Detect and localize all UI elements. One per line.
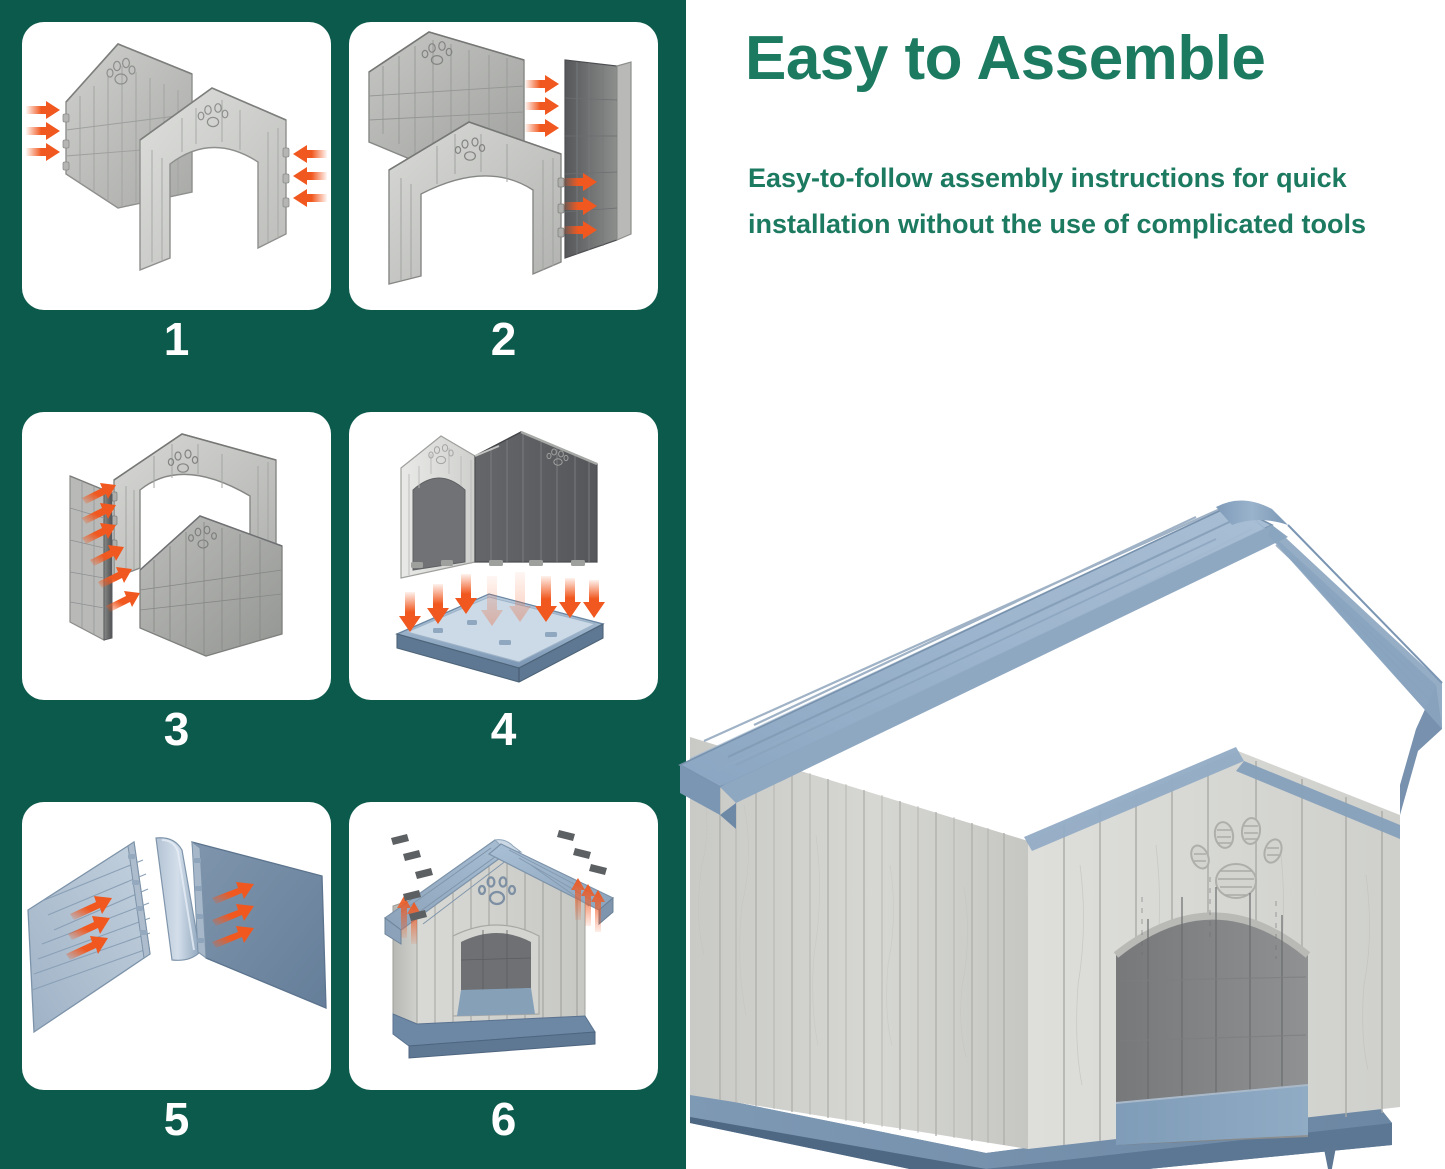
step-number-1: 1 bbox=[22, 316, 331, 362]
arrows-lower bbox=[563, 173, 597, 239]
step-card-4 bbox=[349, 412, 658, 700]
ground-stake-right bbox=[1324, 1147, 1336, 1169]
assembled-walls bbox=[401, 432, 597, 578]
step-number-3: 3 bbox=[22, 706, 331, 752]
step-4-illustration bbox=[349, 412, 658, 700]
step-5-illustration bbox=[22, 802, 331, 1090]
step-6-illustration bbox=[349, 802, 658, 1090]
page-subtitle: Easy-to-follow assembly instructions for… bbox=[748, 155, 1418, 248]
step-3-illustration bbox=[22, 412, 331, 700]
assembly-steps-panel: 1 bbox=[0, 0, 686, 1169]
arrows-left bbox=[26, 101, 60, 161]
dog-house-render bbox=[676, 485, 1445, 1169]
product-hero-image bbox=[676, 485, 1445, 1169]
step-card-5 bbox=[22, 802, 331, 1090]
arrows-right bbox=[293, 145, 327, 207]
infographic-root: 1 bbox=[0, 0, 1445, 1169]
roof-panel-right bbox=[192, 842, 326, 1008]
step-number-5: 5 bbox=[22, 1096, 331, 1142]
step-card-2 bbox=[349, 22, 658, 310]
doorway bbox=[453, 925, 539, 1016]
arrows-upper bbox=[525, 75, 559, 137]
step-number-2: 2 bbox=[349, 316, 658, 362]
page-title: Easy to Assemble bbox=[745, 26, 1405, 91]
step-2-illustration bbox=[349, 22, 658, 310]
step-card-3 bbox=[22, 412, 331, 700]
step-number-4: 4 bbox=[349, 706, 658, 752]
step-card-6 bbox=[349, 802, 658, 1090]
step-card-1 bbox=[22, 22, 331, 310]
roof-panel-left bbox=[28, 842, 150, 1032]
step-1-illustration bbox=[22, 22, 331, 310]
step-number-6: 6 bbox=[349, 1096, 658, 1142]
